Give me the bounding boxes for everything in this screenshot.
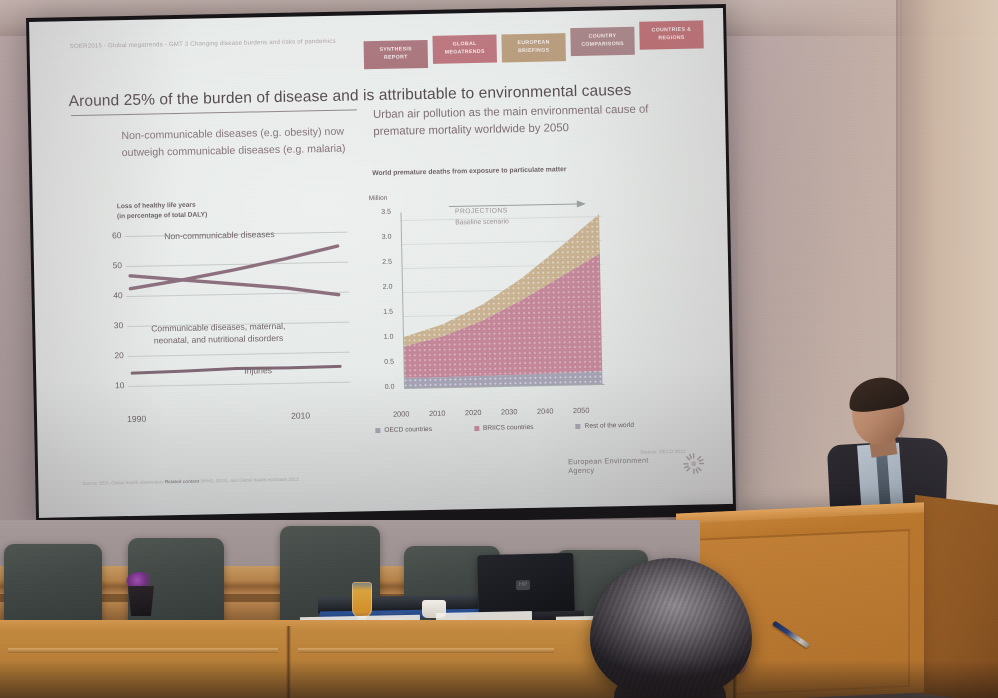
- nav-tab-synthesis-report[interactable]: SYNTHESIS REPORT: [364, 40, 429, 69]
- pen-on-podium: [772, 621, 810, 649]
- x-axis-tick: 1990: [127, 414, 146, 424]
- baseline-scenario-label: Baseline scenario: [455, 217, 509, 229]
- organisation-name: European Environment Agency: [568, 455, 674, 475]
- legend-swatch-briics: [474, 426, 479, 431]
- title-underline: [71, 109, 357, 116]
- left-column: Non-communicable diseases (e.g. obesity)…: [71, 123, 363, 129]
- source-pre: Source: EEA, Global health observatory: [82, 479, 165, 486]
- left-source-note: Source: EEA, Global health observatory R…: [82, 475, 362, 488]
- water-glass: [352, 582, 372, 618]
- table-panel-seam: [286, 626, 291, 698]
- screen-frame: SOER2015 - Global megatrends - GMT 3 Cha…: [26, 4, 736, 530]
- y-axis-tick: 50: [96, 260, 122, 271]
- x-axis-tick: 2000: [393, 409, 410, 418]
- legend-label-briics: BRIICS countries: [483, 424, 534, 432]
- y-axis-tick: 1.5: [371, 309, 393, 316]
- right-chart-areas: [395, 204, 611, 398]
- y-axis-tick: 60: [95, 230, 121, 241]
- y-axis-tick: 3.5: [369, 209, 391, 216]
- chart-loss-of-healthy-life-years: 60 50 40 30 20 10: [95, 224, 351, 409]
- series-label-injuries: Injuries: [228, 365, 288, 378]
- chair: [4, 544, 102, 628]
- y-axis-tick: 10: [98, 380, 124, 391]
- y-axis-tick: 2.0: [370, 284, 392, 291]
- projection-screen: SOER2015 - Global megatrends - GMT 3 Cha…: [26, 4, 736, 530]
- y-axis-unit-label: Million: [369, 195, 388, 202]
- eea-starburst-logo: [682, 452, 704, 474]
- x-axis-tick: 2010: [429, 409, 446, 418]
- y-axis-tick: 1.0: [371, 334, 393, 341]
- x-axis-tick: 2030: [501, 407, 518, 416]
- right-chart-caption: World premature deaths from exposure to …: [372, 165, 572, 179]
- nav-tab-countries-regions[interactable]: COUNTRIES & REGIONS: [639, 20, 704, 49]
- legend-label-rest-of-world: Rest of the world: [584, 422, 634, 430]
- photograph-frame: SOER2015 - Global megatrends - GMT 3 Cha…: [0, 0, 998, 698]
- audience-member-hair: [590, 558, 752, 698]
- foreground-table-area: HP: [0, 520, 998, 698]
- y-axis-tick: 3.0: [369, 234, 391, 241]
- right-lead-text: Urban air pollution as the main environm…: [373, 101, 666, 141]
- legend-item-oecd: OECD countries: [375, 426, 432, 434]
- legend-label-oecd: OECD countries: [384, 426, 432, 434]
- slide-footer: European Environment Agency: [568, 452, 704, 477]
- legend-item-rest-of-world: Rest of the world: [575, 422, 634, 430]
- x-axis-tick: 2010: [291, 410, 310, 420]
- nav-tab-global-megatrends[interactable]: GLOBAL MEGATRENDS: [432, 35, 497, 64]
- left-lead-text: Non-communicable diseases (e.g. obesity)…: [121, 124, 346, 162]
- x-axis-tick: 2040: [537, 406, 554, 415]
- laptop-open[interactable]: HP: [477, 553, 575, 617]
- x-axis-tick: 2050: [573, 406, 590, 415]
- laptop-brand-logo: HP: [516, 580, 530, 590]
- y-axis-tick: 0.5: [372, 359, 394, 366]
- source-post: (WHO, 2013), and Global health estimates…: [199, 477, 298, 484]
- left-chart-caption: Loss of healthy life years (in percentag…: [117, 198, 307, 222]
- y-axis-tick: 30: [97, 320, 123, 331]
- chart-premature-deaths-particulate-matter: Million 3.5 3.0 2.5 2.0 1.5 1.0 0.5 0.0: [369, 199, 669, 405]
- related-content-link[interactable]: Related content: [165, 479, 200, 485]
- y-axis-tick: 2.5: [370, 259, 392, 266]
- legend-swatch-oecd: [375, 428, 380, 433]
- slide-nav-tabs: SYNTHESIS REPORT GLOBAL MEGATRENDS EUROP…: [364, 34, 704, 69]
- x-axis-tick: 2020: [465, 408, 482, 417]
- presentation-slide: SOER2015 - Global megatrends - GMT 3 Cha…: [63, 25, 704, 508]
- legend-item-briics: BRIICS countries: [474, 424, 534, 432]
- flower-pot: [128, 586, 154, 616]
- nav-tab-european-briefings[interactable]: EUROPEAN BRIEFINGS: [501, 33, 566, 62]
- table-panel-molding: [298, 648, 554, 653]
- seated-audience-member: [590, 558, 752, 698]
- nav-tab-country-comparisons[interactable]: COUNTRY COMPARISONS: [570, 27, 635, 56]
- table-panel-molding: [8, 648, 278, 653]
- y-axis-tick: 40: [96, 290, 122, 301]
- right-chart-legend: OECD countries BRIICS countries Rest of …: [375, 422, 634, 434]
- legend-swatch-rest-of-world: [575, 424, 580, 429]
- y-axis-tick: 20: [98, 350, 124, 361]
- y-axis-tick: 0.0: [372, 384, 394, 391]
- screen-surface: SOER2015 - Global megatrends - GMT 3 Cha…: [29, 8, 733, 518]
- slide-breadcrumb: SOER2015 - Global megatrends - GMT 3 Cha…: [70, 38, 336, 50]
- series-label-communicable: Communicable diseases, maternal, neonata…: [145, 321, 291, 347]
